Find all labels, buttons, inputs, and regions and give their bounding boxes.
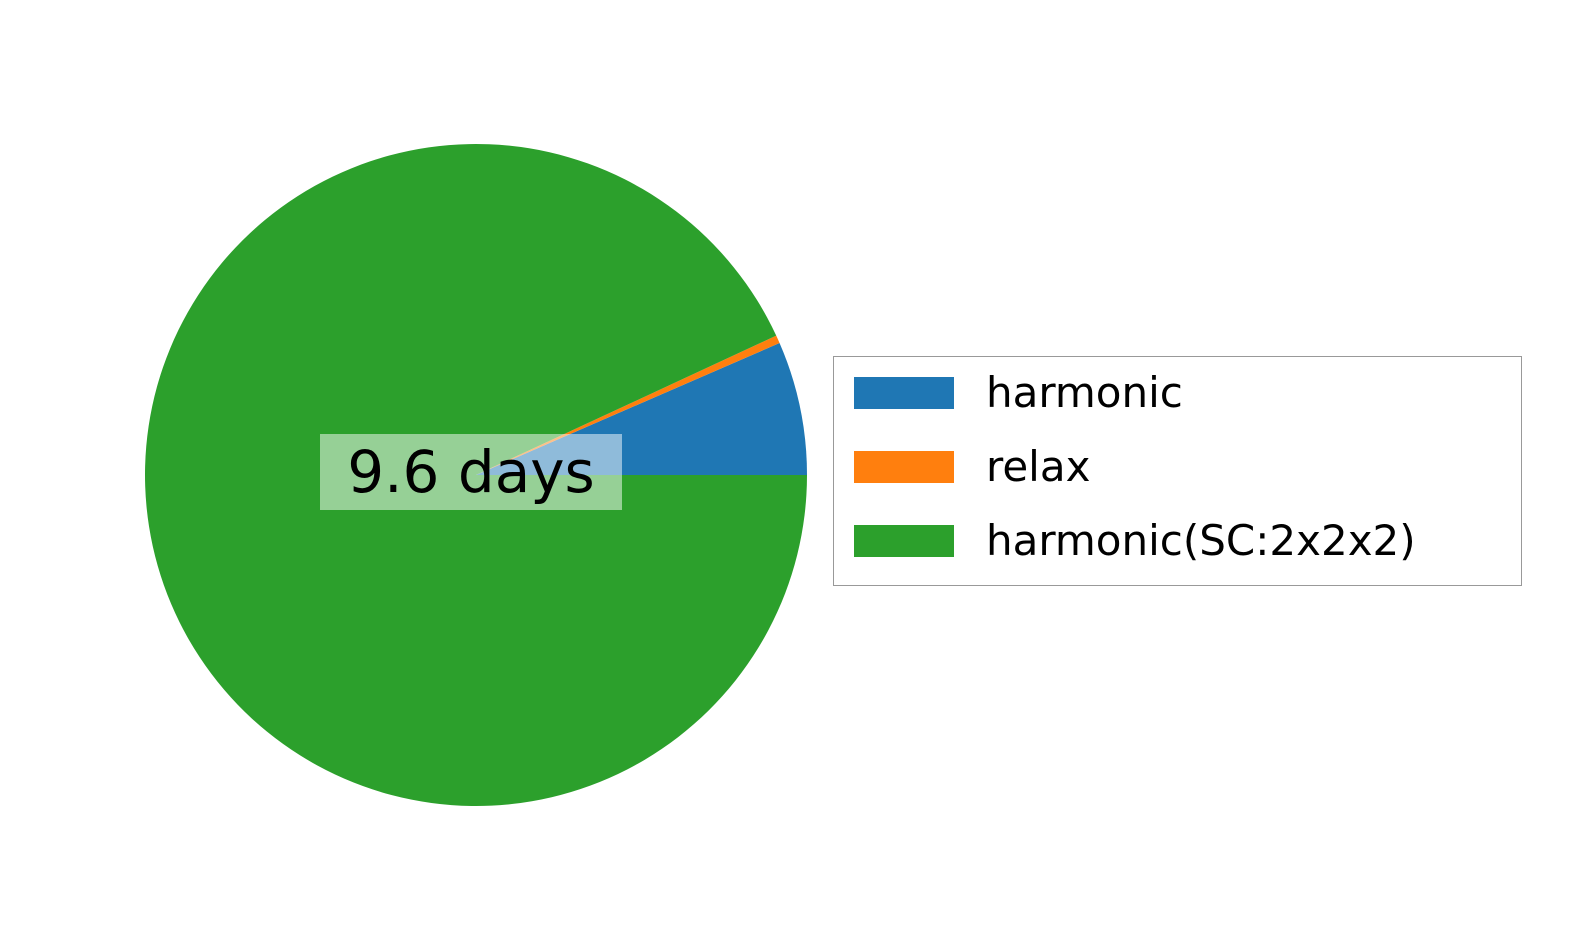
pie-slice-label-text: 9.6 days [347, 443, 595, 501]
legend-color-swatch-relax [854, 451, 954, 483]
legend-entry-harmonic[interactable]: harmonic [854, 368, 1183, 418]
legend-entry-harmonic-sc-2x2x2[interactable]: harmonic(SC:2x2x2) [854, 516, 1416, 566]
legend-label-relax: relax [986, 446, 1090, 488]
legend-label-harmonic: harmonic [986, 372, 1183, 414]
figure-canvas: 9.6 days harmonic relax harmonic(SC:2x2x… [0, 0, 1584, 951]
legend-color-swatch-harmonic [854, 377, 954, 409]
pie-chart-axes: 9.6 days [0, 0, 810, 951]
pie-slice-label-harmonic-sc-2x2x2: 9.6 days [320, 434, 622, 510]
legend-entry-relax[interactable]: relax [854, 442, 1090, 492]
chart-legend: harmonic relax harmonic(SC:2x2x2) [833, 356, 1522, 586]
legend-label-harmonic-sc-2x2x2: harmonic(SC:2x2x2) [986, 520, 1416, 562]
legend-entry-list: harmonic relax harmonic(SC:2x2x2) [834, 357, 1521, 585]
legend-color-swatch-harmonic-sc-2x2x2 [854, 525, 954, 557]
